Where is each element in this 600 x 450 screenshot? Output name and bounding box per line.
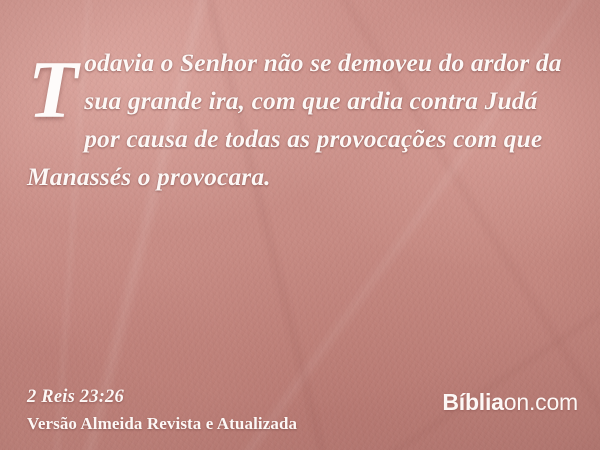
verse-dropcap-letter: T [27,46,84,125]
verse-attribution-block: 2 Reis 23:26 Versão Almeida Revista e At… [27,387,297,434]
verse-text: odavia o Senhor não se demoveu do ardor … [27,48,562,191]
logo-text-primary: Bíblia [442,389,503,415]
biblia-on-logo: Bíbliaon.com [442,389,578,416]
verse-reference: 2 Reis 23:26 [27,387,297,408]
logo-text-secondary: on.com [504,389,578,415]
bible-version-label: Versão Almeida Revista e Atualizada [27,414,297,434]
verse-footer: 2 Reis 23:26 Versão Almeida Revista e At… [27,387,578,434]
bible-verse-card: Todavia o Senhor não se demoveu do ardor… [0,0,600,450]
verse-text-block: Todavia o Senhor não se demoveu do ardor… [27,44,579,196]
